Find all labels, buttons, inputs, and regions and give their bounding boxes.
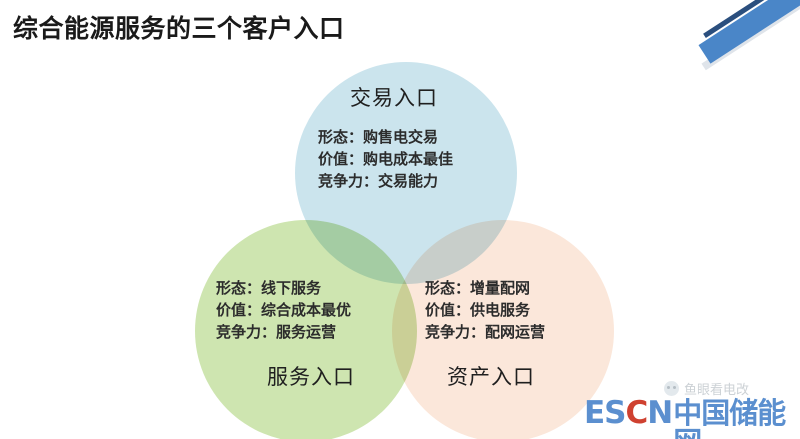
venn-line-trading-value: 价值：购电成本最佳 — [318, 148, 453, 170]
escn-chinese-name: 中国储能网 — [673, 399, 800, 439]
venn-heading-asset: 资产入口 — [447, 361, 535, 391]
venn-line-trading-edge: 竞争力：交易能力 — [318, 170, 453, 192]
venn-line-asset-edge: 竞争力：配网运营 — [425, 321, 545, 343]
escn-letter-c: C — [626, 395, 648, 431]
venn-line-asset-value: 价值：供电服务 — [425, 299, 545, 321]
avatar-icon — [664, 381, 679, 396]
slide-canvas: 综合能源服务的三个客户入口 交易入口 形态：购售电交易 价值：购电成本最佳 竞争… — [0, 0, 800, 439]
venn-line-asset-form: 形态：增量配网 — [425, 277, 545, 299]
escn-letter-n: N — [647, 395, 672, 431]
escn-letters-es: ES — [584, 395, 626, 431]
venn-heading-service: 服务入口 — [267, 361, 355, 391]
venn-labels-layer: 交易入口 形态：购售电交易 价值：购电成本最佳 竞争力：交易能力 形态：线下服务… — [0, 0, 800, 439]
venn-line-service-form: 形态：线下服务 — [216, 277, 351, 299]
venn-lines-service: 形态：线下服务 价值：综合成本最优 竞争力：服务运营 — [216, 277, 351, 343]
venn-line-trading-form: 形态：购售电交易 — [318, 126, 453, 148]
venn-heading-trading: 交易入口 — [350, 82, 438, 112]
venn-line-service-edge: 竞争力：服务运营 — [216, 321, 351, 343]
escn-wordmark: ESCN — [584, 398, 672, 429]
venn-lines-trading: 形态：购售电交易 价值：购电成本最佳 竞争力：交易能力 — [318, 126, 453, 192]
watermark-escn-logo: ESCN 中国储能网 — [584, 398, 800, 439]
venn-line-service-value: 价值：综合成本最优 — [216, 299, 351, 321]
venn-lines-asset: 形态：增量配网 价值：供电服务 竞争力：配网运营 — [425, 277, 545, 343]
